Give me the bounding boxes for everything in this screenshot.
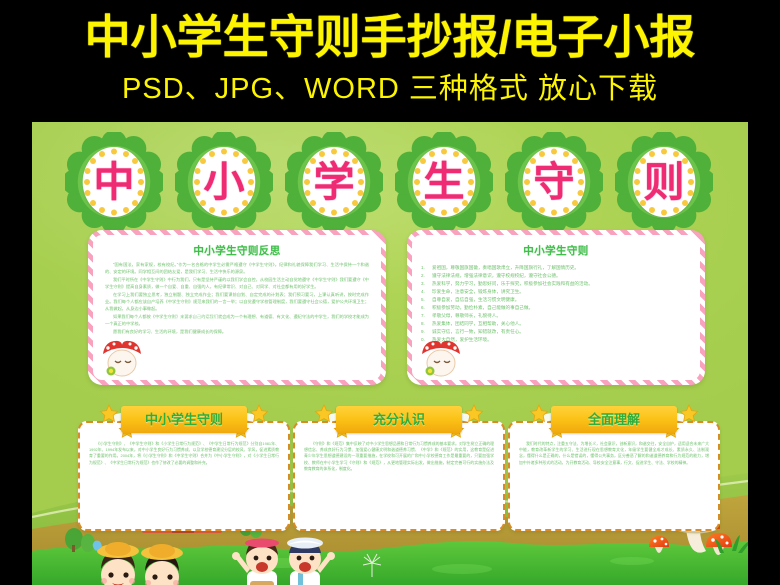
hero-char: 守 <box>534 162 575 203</box>
hero-flower: 生 <box>394 130 494 234</box>
list-item: 6.积极参加劳动，勤俭朴素，自己能做的事自己做。 <box>432 304 684 312</box>
hero-char: 中 <box>94 162 135 203</box>
banner-text: 充分认识 <box>373 413 425 426</box>
panel-code[interactable]: 中小学生守则 1.爱祖国，尊敬国旗国徽，奏唱国歌肃立，升降国旗行礼，了解国情历史… <box>407 230 705 385</box>
list-item: 4.珍爱生命，注意安全，锻炼身体，讲究卫生。 <box>432 288 684 296</box>
panel-paragraph: “国有国法，家有家规，校有校纪。”作为一名合格的中学生必需严格遵守《中学生守则》… <box>105 262 369 275</box>
panel-paragraph: 我们平时所在《中学生守则》中行为我们，只有是坚持严谨的以我们学会自控，从校园生活… <box>105 277 369 290</box>
panel-banner: 中小学生守则 <box>121 406 247 433</box>
banner-text: 中小学生守则 <box>145 413 223 426</box>
panel-banner: 充分认识 <box>336 406 462 433</box>
panel-banner: 全面理解 <box>551 406 677 433</box>
header-subtitle: PSD、JPG、WORD 三种格式 放心下载 <box>0 72 780 106</box>
list-item: 2.遵守法律法规，增强法律意识，遵守校规校纪，遵守社会公德。 <box>432 272 684 280</box>
hero-char: 小 <box>204 162 245 203</box>
panel-understanding[interactable]: 全面理解 我们时代的特点，注重五守法、为增长义，社会意识，创新意识，和谐交往，安… <box>508 421 720 531</box>
hero-char-disc: 守 <box>523 147 585 217</box>
hero-char-disc: 生 <box>413 147 475 217</box>
panel-title: 中小学生守则 <box>412 244 700 258</box>
panel-paragraph: 如果我们每个人都按《中学生守则》来要求自己的话我们就会成为一个有理想、有道德、有… <box>105 314 369 327</box>
hero-char: 则 <box>644 162 685 203</box>
panel-intro[interactable]: 中小学生守则 《小学生守则》、《中学生守则》和《小学生日常行为规范》、《中学生日… <box>78 421 290 531</box>
child-figure-icon <box>141 544 183 585</box>
panel-body: “国有国法，家有家规，校有校纪。”作为一名合格的中学生必需严格遵守《中学生守则》… <box>93 262 381 336</box>
list-item: 5.自尊自爱，自信自强，生活习惯文明健康。 <box>432 296 684 304</box>
list-item: 1.爱祖国，尊敬国旗国徽，奏唱国歌肃立，升降国旗行礼，了解国情历史。 <box>432 264 684 272</box>
hero-char-disc: 学 <box>303 147 365 217</box>
hero-flower: 学 <box>284 130 384 234</box>
hero-char-disc: 小 <box>193 147 255 217</box>
panel-paragraph: 《守则》和《规范》集中反映了对中小学生思想品德和日常行为习惯养成的基本要求。对学… <box>304 441 494 472</box>
list-item: 0.热爱大自然，爱护生活环境。 <box>432 336 684 344</box>
mascot-icon <box>99 336 145 378</box>
list-item: 7.孝敬父母，尊敬师长，礼貌待人。 <box>432 312 684 320</box>
hero-char: 学 <box>314 162 355 203</box>
panel-paragraph: 我们时代的特点，注重五守法、为增长义，社会意识，创新意识，和谐交往，安全自护，适… <box>519 441 709 466</box>
header-bar: 中小学生守则手抄报/电子小报 PSD、JPG、WORD 三种格式 放心下载 <box>0 0 780 122</box>
list-item: 8.热爱集体，团结同学，互相帮助，关心他人。 <box>432 320 684 328</box>
hero-flower: 守 <box>504 130 604 234</box>
panel-reflection[interactable]: 中小学生守则反思 “国有国法，家有家规，校有校纪。”作为一名合格的中学生必需严格… <box>88 230 386 385</box>
hero-flower: 小 <box>174 130 274 234</box>
banner-text: 全面理解 <box>588 413 640 426</box>
hero-title: 中 <box>64 128 714 236</box>
hero-char-disc: 中 <box>83 147 145 217</box>
panel-paragraph: 《小学生守则》、《中学生守则》和《小学生日常行为规范》、《中学生日常行为规范》分… <box>89 441 279 466</box>
hero-char-disc: 则 <box>633 147 695 217</box>
mascot-icon <box>418 336 464 378</box>
panel-paragraph: 愿我们有良好的学习、生活的环境，是我们健康成长的保障。 <box>105 329 369 336</box>
hero-char: 生 <box>424 162 465 203</box>
list-item: 3.热爱科学，努力学习，勤思好问，乐于探究，积极参加社会实践和有益的活动。 <box>432 280 684 288</box>
panel-awareness[interactable]: 充分认识 《守则》和《规范》集中反映了对中小学生思想品德和日常行为习惯养成的基本… <box>293 421 505 531</box>
code-list: 1.爱祖国，尊敬国旗国徽，奏唱国歌肃立，升降国旗行礼，了解国情历史。 2.遵守法… <box>412 262 700 344</box>
panel-title: 中小学生守则反思 <box>93 244 381 258</box>
header-title: 中小学生守则手抄报/电子小报 <box>0 10 780 64</box>
list-item: 9.诚实守信，言行一致，知错就改，有责任心。 <box>432 328 684 336</box>
hero-flower: 则 <box>614 130 714 234</box>
panel-paragraph: 在学习上我们要独立思考，独立制题、独立完成作业；我们要课前自划、自定完成的计划表… <box>105 292 369 312</box>
hero-flower: 中 <box>64 130 164 234</box>
poster-canvas: 中小学生守则手抄报/电子小报 PSD、JPG、WORD 三种格式 放心下载 <box>0 0 780 585</box>
